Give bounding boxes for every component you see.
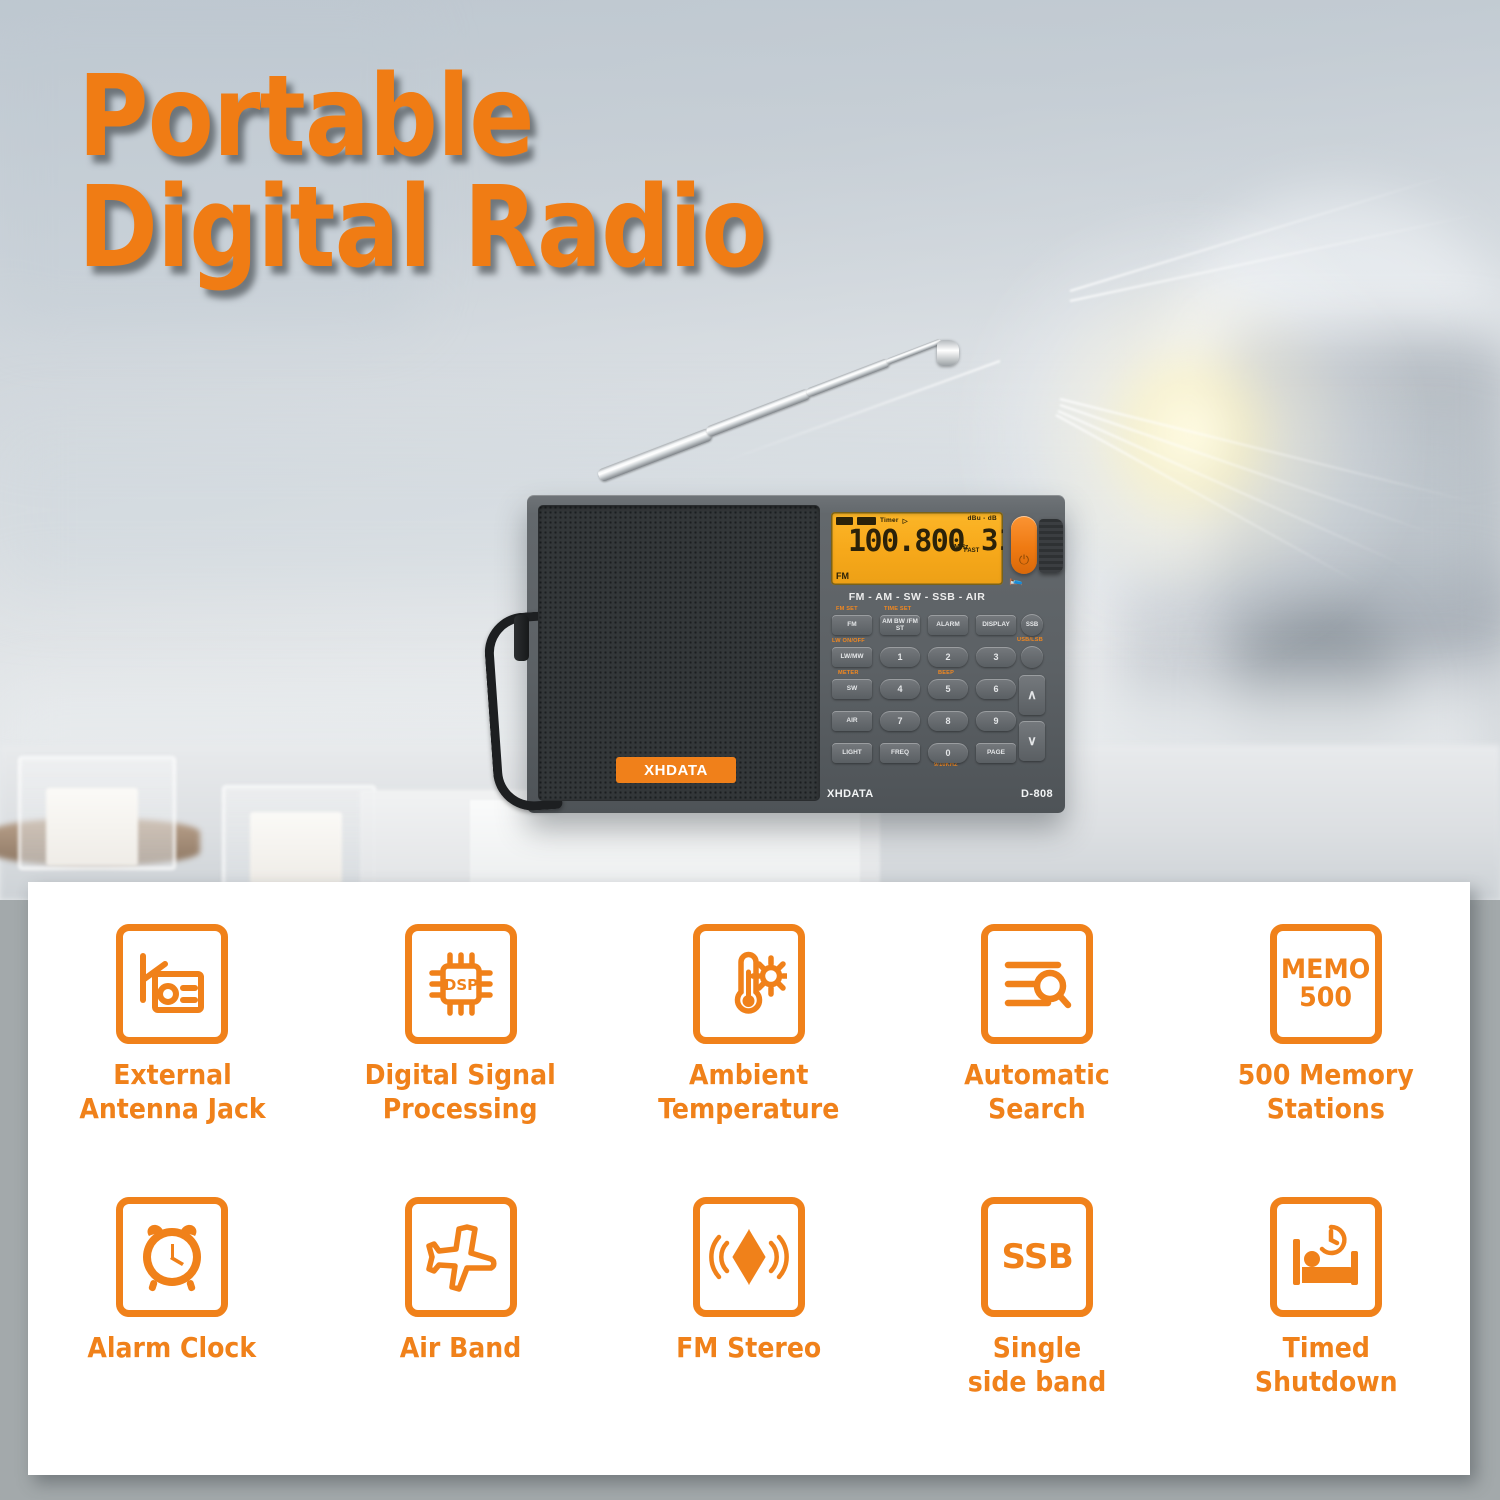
feature-label: Automatic Search (965, 1058, 1111, 1126)
feature-label-line2: side band (968, 1365, 1107, 1398)
feature-item: Automatic Search (893, 882, 1181, 1179)
feature-grid: External Antenna Jack DSP Digital Signal (28, 882, 1470, 1475)
lcd-frequency: 100.800 (848, 527, 964, 557)
feature-item: Ambient Temperature (605, 882, 893, 1179)
speaker-grille: XHDATA (538, 505, 820, 801)
key-ssb[interactable]: SSB (1021, 614, 1043, 636)
dsp-glyph: DSP (443, 976, 477, 994)
feature-label-line2: Processing (383, 1092, 538, 1125)
shift-label-beep: BEEP (938, 670, 954, 676)
poster-canvas: XHDATA Timer ▷ dBu - dB 100.800 MHz (0, 0, 1500, 1500)
ssb-icon: SSB (981, 1197, 1093, 1317)
feature-panel: External Antenna Jack DSP Digital Signal (28, 882, 1470, 1475)
dsp-chip-icon: DSP (405, 924, 517, 1044)
feature-label-line1: Automatic (965, 1058, 1111, 1091)
shift-label-meter: METER (838, 670, 859, 676)
power-button[interactable]: ⏻ (1011, 516, 1037, 574)
airplane-icon (405, 1197, 517, 1317)
tuning-knob[interactable] (1039, 519, 1063, 573)
key-9[interactable]: 9 (976, 711, 1016, 731)
feature-item: Timed Shutdown (1182, 1179, 1470, 1476)
feature-label-line2: Temperature (658, 1092, 839, 1125)
key-4[interactable]: 4 (880, 679, 920, 699)
feature-label-line2: Search (989, 1092, 1087, 1125)
feature-label-line1: Digital Signal (365, 1058, 556, 1091)
shift-label-lw-onoff: LW ON/OFF (832, 638, 865, 644)
speaker-brand-badge: XHDATA (616, 757, 736, 783)
feature-label: Air Band (400, 1331, 522, 1365)
key-usb-lsb[interactable] (1021, 646, 1043, 668)
feature-label: FM Stereo (676, 1331, 821, 1365)
feature-item: FM Stereo (605, 1179, 893, 1476)
feature-label-line1: Alarm Clock (88, 1331, 257, 1364)
feature-label-line2: Antenna Jack (79, 1092, 265, 1125)
key-freq[interactable]: FREQ (880, 743, 920, 763)
key-5[interactable]: 5 (928, 679, 968, 699)
feature-item: Alarm Clock (28, 1179, 316, 1476)
key-2[interactable]: 2 (928, 647, 968, 667)
feature-item: DSP Digital Signal Processing (316, 882, 604, 1179)
key-lw-mw[interactable]: LW/MW (832, 647, 872, 667)
key-8[interactable]: 8 (928, 711, 968, 731)
key-7[interactable]: 7 (880, 711, 920, 731)
feature-item: External Antenna Jack (28, 882, 316, 1179)
external-antenna-jack-icon (116, 924, 228, 1044)
sleep-icon: 🛌 (1009, 573, 1039, 586)
feature-label-line1: Single (993, 1331, 1081, 1364)
brand-name: XHDATA (827, 788, 874, 800)
feature-label: Timed Shutdown (1254, 1331, 1397, 1399)
feature-label: Digital Signal Processing (365, 1058, 556, 1126)
band-label-strip: FM - AM - SW - SSB - AIR (829, 591, 1005, 603)
model-number: D-808 (1021, 788, 1053, 800)
key-0[interactable]: 0 (928, 743, 968, 763)
feature-label-line2: Shutdown (1254, 1365, 1397, 1398)
feature-item: SSB Single side band (893, 1179, 1181, 1476)
key-up-arrow[interactable]: ∧ (1019, 675, 1045, 715)
key-display[interactable]: DISPLAY (976, 615, 1016, 635)
feature-label: External Antenna Jack (79, 1058, 265, 1126)
lcd-tuning-speed: FAST (964, 548, 979, 554)
key-alarm[interactable]: ALARM (928, 615, 968, 635)
key-down-arrow[interactable]: ∨ (1019, 721, 1045, 761)
key-3[interactable]: 3 (976, 647, 1016, 667)
key-air[interactable]: AIR (832, 711, 872, 731)
lcd-display: Timer ▷ dBu - dB 100.800 MHz FAST 311 FM (831, 512, 1003, 585)
key-light[interactable]: LIGHT (832, 743, 872, 763)
alarm-clock-icon (116, 1197, 228, 1317)
strap-clip (514, 615, 529, 661)
page-title: Portable Digital Radio (78, 62, 879, 284)
telescopic-antenna-icon (599, 348, 959, 498)
feature-label: Ambient Temperature (658, 1058, 839, 1126)
key-am-bw-fm-st[interactable]: AM BW /FM ST (880, 615, 920, 635)
lcd-band-mode: FM (836, 571, 849, 581)
feature-label-line1: External (113, 1058, 232, 1091)
feature-item: MEMO 500 500 Memory Stations (1182, 882, 1470, 1179)
key-fm[interactable]: FM (832, 615, 872, 635)
shift-label-fm-set: FM SET (836, 606, 858, 612)
candle (46, 788, 138, 866)
shift-label-usb-lsb: USB/LSB (1017, 637, 1043, 643)
feature-label-line1: FM Stereo (676, 1331, 821, 1364)
fm-stereo-speaker-icon (693, 1197, 805, 1317)
feature-label: Single side band (968, 1331, 1107, 1399)
memo-glyph: MEMO 500 (1281, 956, 1370, 1011)
keypad: FM SET TIME SET LW ON/OFF METER BEEP 9/1… (827, 607, 1055, 797)
feature-label: 500 Memory Stations (1238, 1058, 1414, 1126)
feature-label-line1: Air Band (400, 1331, 522, 1364)
memo-500-icon: MEMO 500 (1270, 924, 1382, 1044)
memo-glyph-line1: MEMO (1281, 954, 1370, 985)
lcd-units-label: dBu - dB (968, 515, 997, 522)
radio-product: XHDATA Timer ▷ dBu - dB 100.800 MHz (527, 345, 1087, 815)
feature-label-line1: Ambient (689, 1058, 809, 1091)
ssb-glyph: SSB (1001, 1237, 1073, 1277)
feature-label-line1: Timed (1282, 1331, 1369, 1364)
key-1[interactable]: 1 (880, 647, 920, 667)
lcd-timer-label: Timer (880, 517, 899, 524)
feature-label: Alarm Clock (88, 1331, 257, 1365)
shift-label-time-set: TIME SET (884, 606, 911, 612)
memo-glyph-line2: 500 (1299, 982, 1352, 1013)
lcd-signal-value: 311 (981, 526, 1003, 555)
control-panel: Timer ▷ dBu - dB 100.800 MHz FAST 311 FM… (823, 503, 1055, 803)
thermometer-sun-icon (693, 924, 805, 1044)
feature-item: Air Band (316, 1179, 604, 1476)
sleep-timer-bed-icon (1270, 1197, 1382, 1317)
key-6[interactable]: 6 (976, 679, 1016, 699)
candle (250, 812, 342, 884)
headline-line-2: Digital Radio (78, 173, 767, 284)
product-branding: XHDATA D-808 (827, 788, 1053, 800)
key-page[interactable]: PAGE (976, 743, 1016, 763)
auto-search-icon (981, 924, 1093, 1044)
radio-chassis: XHDATA Timer ▷ dBu - dB 100.800 MHz (527, 495, 1065, 813)
feature-label-line1: 500 Memory (1238, 1058, 1414, 1091)
key-sw[interactable]: SW (832, 679, 872, 699)
feature-label-line2: Stations (1267, 1092, 1385, 1125)
headline-line-1: Portable (78, 62, 767, 173)
